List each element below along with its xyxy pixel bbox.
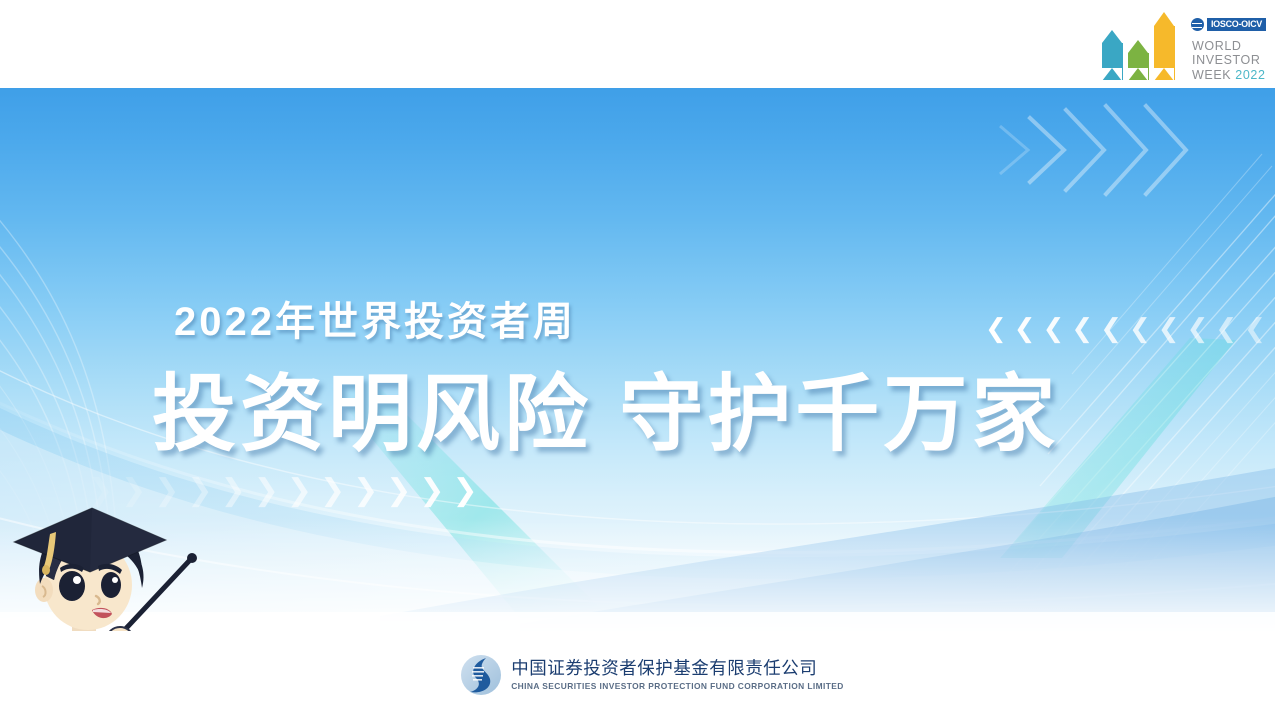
poster-root: IOSCO-OICV WORLD INVESTOR WEEK 2022 <box>0 0 1280 719</box>
banner-background-art <box>0 88 1275 631</box>
iosco-badge: IOSCO-OICV <box>1191 18 1266 31</box>
cisipf-logo-icon <box>460 654 502 696</box>
banner-headline: 投资明风险 守护千万家 <box>152 366 1059 462</box>
pencil-green-icon <box>1128 40 1149 80</box>
globe-icon <box>1191 18 1204 31</box>
wiw-line-1: WORLD <box>1192 39 1242 53</box>
main-banner: ❯ ❯ ❯ ❯ ❯ ❯ ❯ ❯ ❯ ❯ ❯ ❯ ❮ ❮ ❮ ❮ ❮ ❮ ❮ ❮ … <box>0 88 1275 631</box>
pencil-blue-icon <box>1102 30 1123 80</box>
pencil-bars-icon <box>1102 12 1186 84</box>
wiw-line-3: WEEK <box>1192 68 1235 82</box>
wiw-year: 2022 <box>1235 68 1265 82</box>
iosco-label: IOSCO-OICV <box>1207 18 1266 31</box>
wiw-wordmark: WORLD INVESTOR WEEK 2022 <box>1192 39 1266 83</box>
top-white-strip <box>0 0 1280 88</box>
wiw-line-2: INVESTOR <box>1192 53 1260 67</box>
company-name-cn: 中国证券投资者保护基金有限责任公司 <box>511 659 844 680</box>
world-investor-week-logo: IOSCO-OICV WORLD INVESTOR WEEK 2022 <box>1102 6 1268 84</box>
pencil-yellow-icon <box>1154 12 1175 80</box>
company-name-en: CHINA SECURITIES INVESTOR PROTECTION FUN… <box>511 681 844 692</box>
banner-subtitle: 2022年世界投资者周 <box>174 297 576 347</box>
footer-bar: 中国证券投资者保护基金有限责任公司 CHINA SECURITIES INVES… <box>0 631 1280 719</box>
